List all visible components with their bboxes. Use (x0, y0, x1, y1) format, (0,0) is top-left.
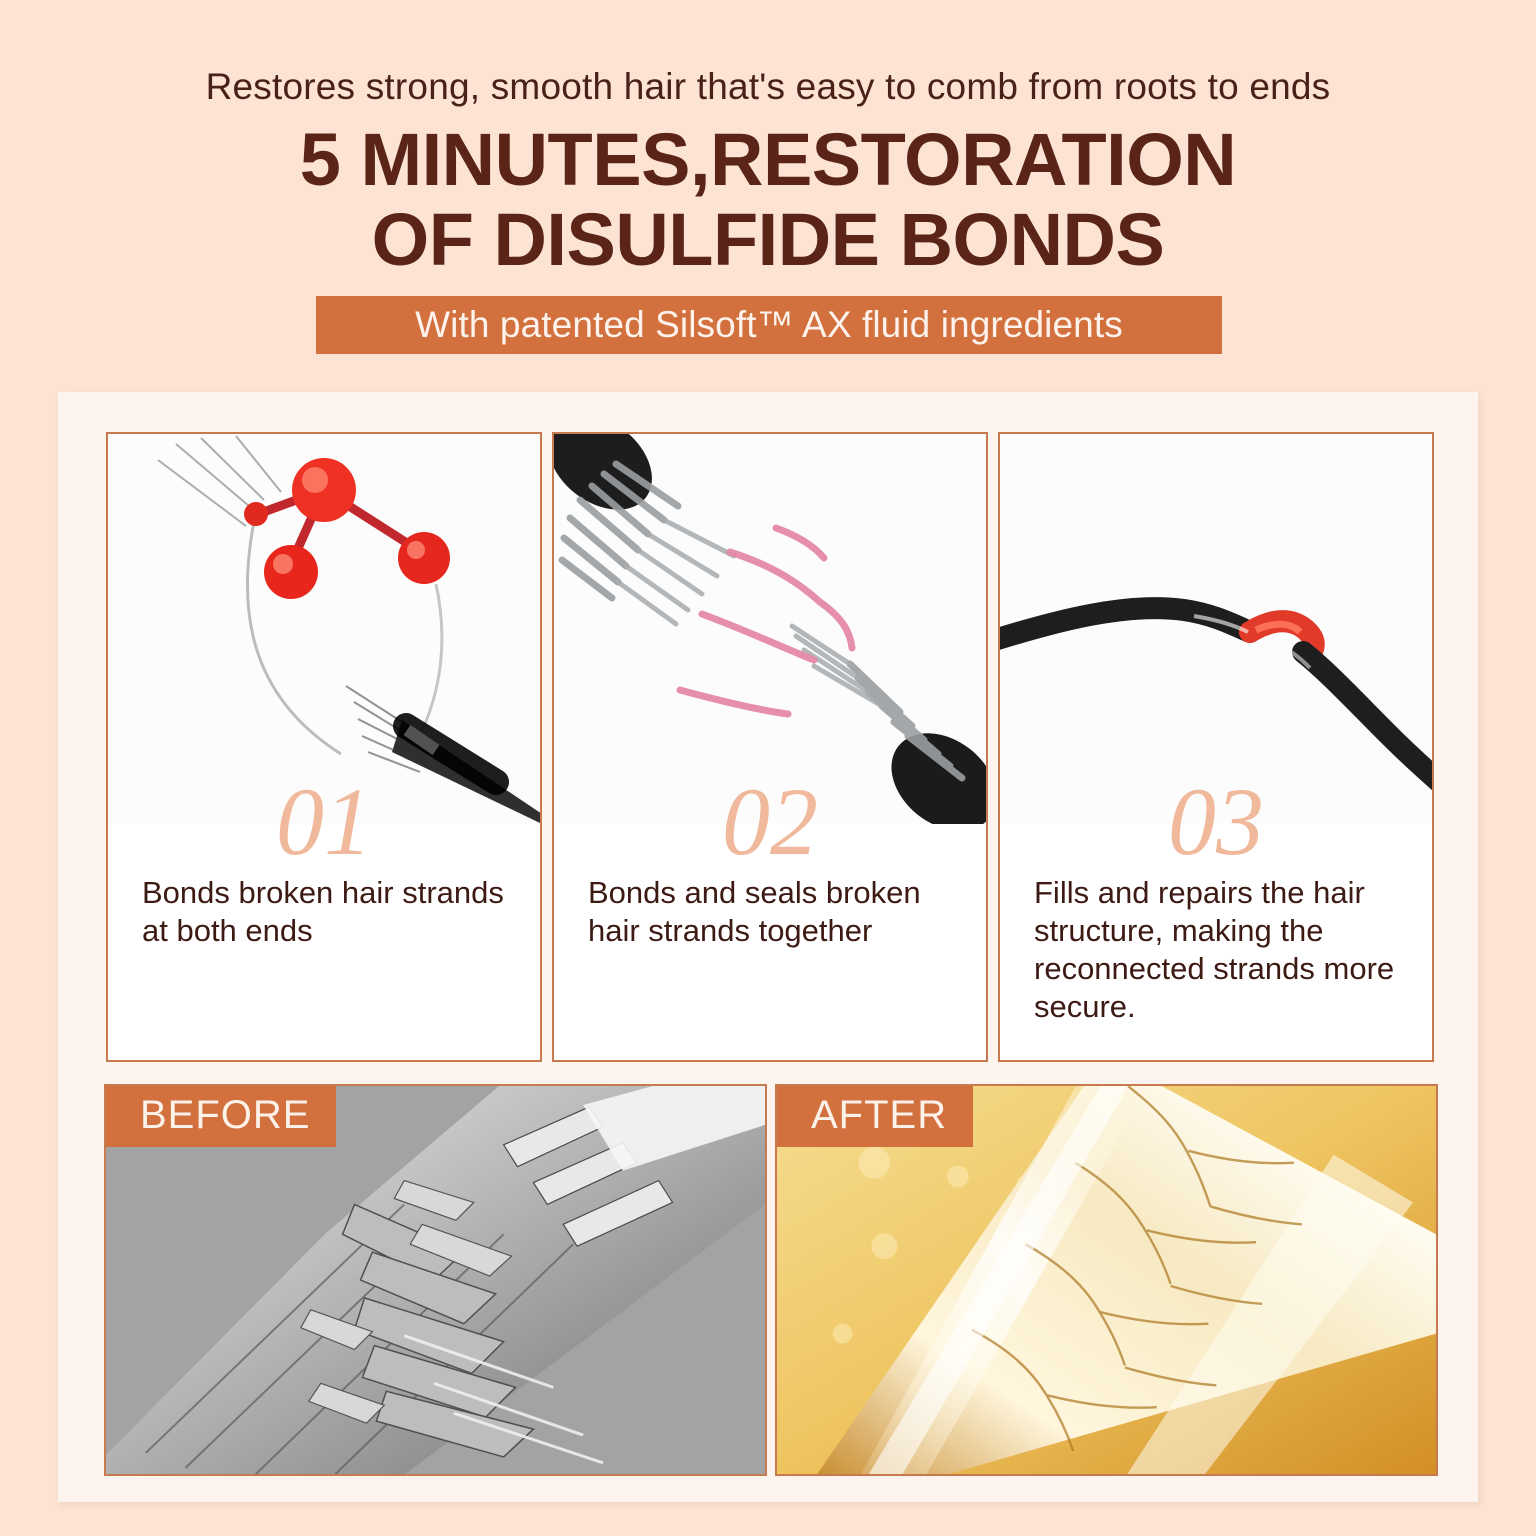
step-card-01: 01 Bonds broken hair strands at both end… (106, 432, 542, 1062)
after-badge: AFTER (777, 1086, 973, 1147)
step-image-02 (554, 434, 986, 824)
step-card-02: 02 Bonds and seals broken hair strands t… (552, 432, 988, 1062)
step-image-03 (1000, 434, 1432, 824)
step-image-01 (108, 434, 540, 824)
page-title: 5 MINUTES,RESTORATION OF DISULFIDE BONDS (0, 120, 1536, 280)
step-text-02: Bonds and seals broken hair strands toge… (588, 874, 952, 950)
before-panel: BEFORE (104, 1084, 767, 1476)
after-panel: AFTER (775, 1084, 1438, 1476)
step-body-03: Fills and repairs the hair structure, ma… (1000, 874, 1432, 1026)
tagline: Restores strong, smooth hair that's easy… (0, 66, 1536, 108)
step-text-01: Bonds broken hair strands at both ends (142, 874, 506, 950)
header-section: Restores strong, smooth hair that's easy… (0, 0, 1536, 390)
step-body-02: Bonds and seals broken hair strands toge… (554, 874, 986, 950)
before-after-row: BEFORE (104, 1084, 1438, 1476)
steps-row: 01 Bonds broken hair strands at both end… (106, 432, 1436, 1062)
infographic-page: Restores strong, smooth hair that's easy… (0, 0, 1536, 1536)
ingredient-banner-label: With patented Silsoft™ AX fluid ingredie… (415, 304, 1123, 346)
step-text-03: Fills and repairs the hair structure, ma… (1034, 874, 1398, 1026)
step-body-01: Bonds broken hair strands at both ends (108, 874, 540, 950)
step-card-03: 03 Fills and repairs the hair structure,… (998, 432, 1434, 1062)
before-badge: BEFORE (106, 1086, 336, 1147)
headline-line-1: 5 MINUTES,RESTORATION (300, 118, 1237, 201)
headline-line-2: OF DISULFIDE BONDS (0, 200, 1536, 280)
content-panel: 01 Bonds broken hair strands at both end… (58, 392, 1478, 1502)
ingredient-banner: With patented Silsoft™ AX fluid ingredie… (316, 296, 1222, 354)
